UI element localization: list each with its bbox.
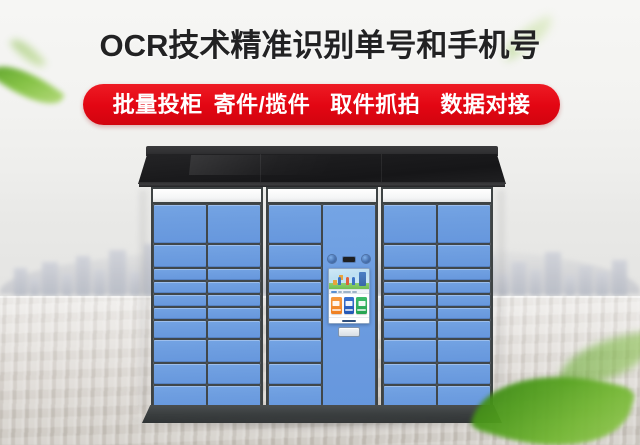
locker-door[interactable] [208,269,260,280]
tagline-item-1: 批量投柜 [113,94,203,116]
action-button-deposit-label [332,309,341,311]
locker-door[interactable] [269,364,321,384]
cabinet-middle-header-panel [268,189,376,204]
locker-door[interactable] [269,245,321,267]
locker-door[interactable] [438,308,490,319]
skyline-building [94,270,105,296]
notice-text-line [343,291,351,293]
skyline-building [545,252,561,296]
canopy-seam [381,154,382,184]
smart-locker-unit [138,146,506,422]
locker-door[interactable] [384,295,436,306]
illustration-parcel [333,280,337,285]
cabinet-right [381,187,493,407]
locker-door[interactable] [438,295,490,306]
skyline-building [579,266,592,296]
locker-door[interactable] [154,321,206,338]
locker-door[interactable] [154,364,206,384]
cabinet-left-column-1 [154,205,206,408]
tagline-item-2: 寄件/揽件 [214,94,311,116]
notice-chip [331,291,337,293]
barcode-scanner-icon [343,257,355,262]
locker-door[interactable] [384,205,436,243]
locker-door[interactable] [208,364,260,384]
locker-door[interactable] [269,295,321,306]
skyline-building [30,278,39,296]
tagline-item-3: 取件抓拍 [330,94,420,116]
illustration-kiosk [359,272,366,286]
cabinet-ground-shadow [132,418,512,430]
locker-door[interactable] [384,321,436,338]
locker-door[interactable] [269,321,321,338]
cabinet-right-column-1 [384,205,436,408]
skyline-building [530,270,541,296]
notice-text-line [338,291,342,293]
locker-door[interactable] [384,282,436,293]
locker-door[interactable] [154,340,206,362]
cabinet-right-columns [383,204,491,409]
locker-door[interactable] [154,386,206,408]
cabinet-left-column-2 [208,205,260,408]
skyline-building [14,268,27,296]
cabinet-row [151,187,493,407]
action-button-pickup[interactable] [344,297,355,314]
unit-shadow-left [140,190,150,408]
tagline-item-4: 数据对接 [440,94,530,116]
cabinet-middle-columns [268,204,376,409]
footer-indicator [342,320,356,322]
locker-door[interactable] [208,295,260,306]
tagline-items: 批量投柜 寄件/揽件 取件抓拍 数据对接 [113,94,531,116]
illustration-person [338,277,341,285]
page-title: OCR技术精准识别单号和手机号 [0,26,640,66]
locker-door[interactable] [384,386,436,408]
cabinet-left-header-panel [153,189,261,204]
skyline-building [565,276,575,296]
locker-door[interactable] [438,205,490,243]
locker-door[interactable] [208,308,260,319]
kiosk-panel [323,205,375,408]
screen-action-buttons [329,294,369,317]
locker-door[interactable] [208,245,260,267]
locker-door[interactable] [384,308,436,319]
action-button-send-label [357,309,366,311]
skyline-building [596,272,608,296]
locker-door[interactable] [384,245,436,267]
illustration-person [346,277,349,285]
locker-door[interactable] [154,205,206,243]
unit-shadow-right [494,190,504,408]
card-reader-slot[interactable] [338,327,360,337]
canopy-seam [260,154,261,184]
locker-door[interactable] [269,386,321,408]
locker-door[interactable] [208,386,260,408]
locker-door[interactable] [438,321,490,338]
skyline-building [62,274,72,296]
locker-door[interactable] [384,269,436,280]
locker-door[interactable] [269,282,321,293]
truck-icon [358,301,365,306]
action-button-send[interactable] [356,297,367,314]
skyline-building [76,256,90,296]
parcel-icon [333,301,340,306]
skyline-building [612,260,627,296]
promo-banner: OCR技术精准识别单号和手机号 批量投柜 寄件/揽件 取件抓拍 数据对接 [0,0,640,445]
action-button-deposit[interactable] [331,297,342,314]
locker-door[interactable] [269,308,321,319]
skyline-building [512,262,526,296]
kiosk-touchscreen[interactable] [328,268,370,324]
locker-door[interactable] [384,364,436,384]
locker-door[interactable] [154,269,206,280]
locker-door[interactable] [438,340,490,362]
locker-door[interactable] [208,340,260,362]
screen-footer-bar [329,317,369,323]
locker-door[interactable] [438,364,490,384]
cabinet-left-columns [153,204,261,409]
locker-door[interactable] [438,269,490,280]
mailbox-icon [346,301,353,306]
cabinet-right-column-2 [438,205,490,408]
locker-door[interactable] [208,205,260,243]
camera-lens-left-icon [328,255,336,263]
locker-door[interactable] [208,282,260,293]
skyline-building [42,262,58,296]
skyline-building [109,250,126,296]
canopy-roof [138,146,506,188]
locker-door[interactable] [269,269,321,280]
locker-door[interactable] [154,282,206,293]
tagline-pill: 批量投柜 寄件/揽件 取件抓拍 数据对接 [83,84,560,125]
action-button-pickup-label [345,309,354,311]
locker-door[interactable] [154,245,206,267]
cabinet-left [151,187,263,407]
cabinet-middle-column-1 [269,205,321,408]
locker-door[interactable] [384,340,436,362]
locker-door[interactable] [154,308,206,319]
locker-door[interactable] [154,295,206,306]
locker-door[interactable] [438,282,490,293]
notice-text-line [352,291,357,293]
kiosk-sensor-row [328,255,370,263]
locker-door[interactable] [438,386,490,408]
cabinet-middle [266,187,378,407]
cabinet-right-header-panel [383,189,491,204]
illustration-person [352,277,355,285]
camera-lens-right-icon [362,255,370,263]
locker-door[interactable] [438,245,490,267]
locker-door[interactable] [208,321,260,338]
screen-promo-illustration [329,269,369,289]
locker-door[interactable] [269,340,321,362]
locker-door[interactable] [269,205,321,243]
